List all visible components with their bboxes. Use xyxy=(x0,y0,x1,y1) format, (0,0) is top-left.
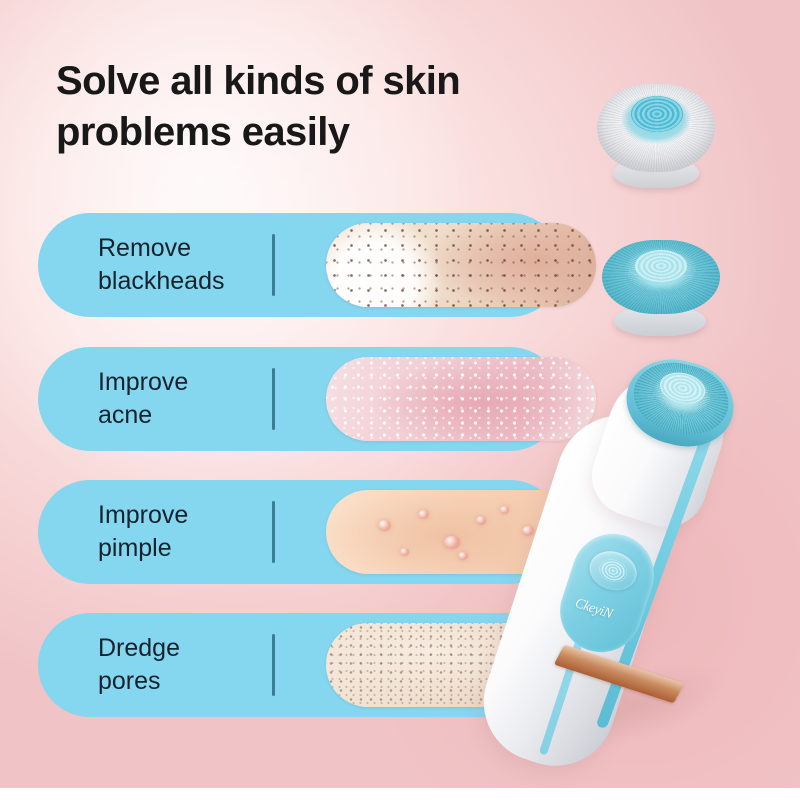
brand-logo: CkeyiN xyxy=(571,596,629,632)
feature-divider xyxy=(272,634,275,696)
accessory-teal-silicone-brush-head xyxy=(602,238,720,336)
feature-pill-improve-pimple: Improve pimple xyxy=(38,480,562,584)
product-device: CkeyiN xyxy=(540,355,800,800)
feature-pill-remove-blackheads: Remove blackheads xyxy=(38,213,562,317)
headline-line-1: Solve all kinds of skin xyxy=(56,56,576,107)
headline-line-2: problems easily xyxy=(56,107,576,158)
feature-pill-improve-acne: Improve acne xyxy=(38,347,562,451)
feature-label: Remove blackheads xyxy=(98,232,268,298)
product-poster: Solve all kinds of skin problems easily … xyxy=(0,0,800,800)
feature-divider xyxy=(272,234,275,296)
power-button-icon[interactable] xyxy=(584,545,641,596)
feature-divider xyxy=(272,368,275,430)
brush-head-center-spiral xyxy=(635,250,687,282)
feature-label: Dredge pores xyxy=(98,632,268,698)
blackhead-texture xyxy=(326,223,596,307)
feature-image-blackheads xyxy=(326,223,596,307)
accessory-white-bristle-brush-head xyxy=(597,80,715,188)
feature-label: Improve pimple xyxy=(98,499,268,565)
feature-label: Improve acne xyxy=(98,366,268,432)
brush-head-center-spiral xyxy=(631,96,683,132)
page-title: Solve all kinds of skin problems easily xyxy=(56,56,576,158)
feature-divider xyxy=(272,501,275,563)
